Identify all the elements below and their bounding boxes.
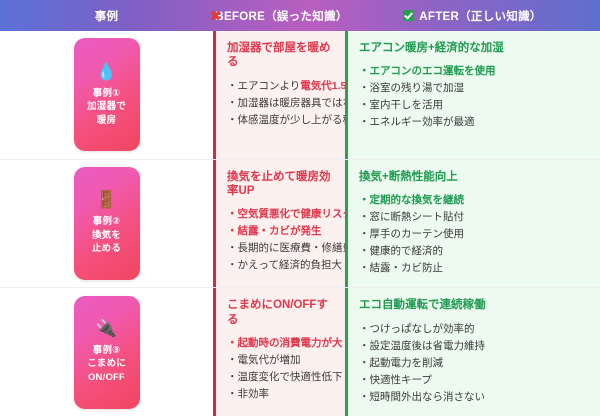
point-item: 窓に断熱シート貼付 xyxy=(359,209,589,226)
after-cell: エアコン暖房+経済的な加湿エアコンのエコ運転を使用浴室の残り湯で加湿室内干しを活… xyxy=(345,31,600,159)
point-item: 結露・カビが発生 xyxy=(227,223,334,240)
before-point-list: 起動時の消費電力が大電気代が増加温度変化で快適性低下非効率 xyxy=(227,335,334,403)
point-text: 結露・カビ防止 xyxy=(370,262,444,274)
before-title: 加湿器で部屋を暖める xyxy=(227,41,334,70)
point-text: 温度変化で快適性低下 xyxy=(238,371,343,383)
case-label-line: 事例③ xyxy=(93,344,121,357)
case-label-line: ON/OFF xyxy=(88,371,125,384)
after-point-list: 定期的な換気を継続窓に断熱シート貼付厚手のカーテン使用健康的で経済的結露・カビ防… xyxy=(359,192,589,277)
point-text: 空気質悪化で健康リスク xyxy=(238,208,346,220)
case-card[interactable]: 💧事例①加湿器で暖房 xyxy=(74,38,140,151)
point-text: 非効率 xyxy=(238,388,270,400)
point-text: エアコンのエコ運転を使用 xyxy=(370,65,496,77)
point-item: 設定温度後は省電力維持 xyxy=(359,338,589,355)
point-item: 快適性キープ xyxy=(359,372,589,389)
point-item: エアコンより電気代1.5倍 xyxy=(227,78,334,95)
power-plug-icon: 🔌 xyxy=(96,320,117,337)
before-cell: 換気を止めて暖房効率UP空気質悪化で健康リスク結露・カビが発生長期的に医療費・修… xyxy=(213,160,345,288)
point-item: 室内干しを活用 xyxy=(359,97,589,114)
table-body: 💧事例①加湿器で暖房加湿器で部屋を暖めるエアコンより電気代1.5倍加湿器は暖房器… xyxy=(0,31,600,416)
point-item: 短時間外出なら消さない xyxy=(359,389,589,406)
point-item: エネルギー効率が最適 xyxy=(359,114,589,131)
after-title: エコ自動運転で連続稼働 xyxy=(359,298,589,312)
point-item: 起動電力を削減 xyxy=(359,355,589,372)
point-text: 快適性キープ xyxy=(370,374,432,386)
point-text: 起動時の消費電力が大 xyxy=(238,337,343,349)
before-cell: こまめにON/OFFする起動時の消費電力が大電気代が増加温度変化で快適性低下非効… xyxy=(213,288,345,416)
point-item: 浴室の残り湯で加湿 xyxy=(359,80,589,97)
point-text: 結露・カビが発生 xyxy=(238,225,322,237)
header-before-label: BEFORE（誤った知識） xyxy=(215,8,347,24)
point-item: 健康的で経済的 xyxy=(359,243,589,260)
case-label-line: 暖房 xyxy=(97,114,116,127)
point-item: 加湿器は暖房器具ではない xyxy=(227,95,334,112)
case-card[interactable]: 🔌事例③こまめにON/OFF xyxy=(74,296,140,409)
before-title: こまめにON/OFFする xyxy=(227,298,334,327)
point-item: 体感温度が少し上がる程度 xyxy=(227,112,334,129)
before-point-list: エアコンより電気代1.5倍加湿器は暖房器具ではない体感温度が少し上がる程度 xyxy=(227,78,334,129)
header-cell-after: AFTER（正しい知識） xyxy=(345,0,600,31)
case-cell: 💧事例①加湿器で暖房 xyxy=(0,31,213,159)
point-item: 温度変化で快適性低下 xyxy=(227,369,334,386)
point-text: 加湿器は暖房器具ではない xyxy=(238,97,346,109)
case-label-line: 加湿器で xyxy=(87,100,126,113)
point-text: 室内干しを活用 xyxy=(370,99,444,111)
header-case-label: 事例 xyxy=(95,8,119,24)
header-after-label: AFTER（正しい知識） xyxy=(419,8,541,24)
point-text: 窓に断熱シート貼付 xyxy=(370,211,465,223)
case-card[interactable]: 🚪事例②換気を止める xyxy=(74,167,140,280)
table-header-row: 事例 BEFORE（誤った知識） AFTER（正しい知識） xyxy=(0,0,600,31)
after-point-list: エアコンのエコ運転を使用浴室の残り湯で加湿室内干しを活用エネルギー効率が最適 xyxy=(359,63,589,131)
check-mark-icon xyxy=(403,10,414,21)
case-label-line: 事例② xyxy=(93,215,121,228)
point-text: 短時間外出なら消さない xyxy=(370,391,486,403)
point-text: 健康的で経済的 xyxy=(370,245,444,257)
point-text: 設定温度後は省電力維持 xyxy=(370,340,486,352)
table-row: 🔌事例③こまめにON/OFFこまめにON/OFFする起動時の消費電力が大電気代が… xyxy=(0,288,600,416)
header-cell-before: BEFORE（誤った知識） xyxy=(213,0,345,31)
point-emphasis: 電気代1.5倍 xyxy=(300,80,345,92)
point-text: かえって経済的負担大 xyxy=(238,259,342,271)
door-icon: 🚪 xyxy=(96,191,117,208)
comparison-table: 事例 BEFORE（誤った知識） AFTER（正しい知識） 💧事例①加湿器で暖房… xyxy=(0,0,600,416)
after-cell: 換気+断熱性能向上定期的な換気を継続窓に断熱シート貼付厚手のカーテン使用健康的で… xyxy=(345,160,600,288)
point-text: 浴室の残り湯で加湿 xyxy=(370,82,465,94)
point-text: 電気代が増加 xyxy=(238,354,301,366)
point-item: 電気代が増加 xyxy=(227,352,334,369)
point-item: 長期的に医療費・修繕費増 xyxy=(227,240,334,257)
point-item: 起動時の消費電力が大 xyxy=(227,335,334,352)
before-title: 換気を止めて暖房効率UP xyxy=(227,170,334,199)
case-label-line: 事例① xyxy=(93,87,121,100)
point-text: 体感温度が少し上がる程度 xyxy=(238,114,346,126)
point-text: つけっぱなしが効率的 xyxy=(370,323,475,335)
after-point-list: つけっぱなしが効率的設定温度後は省電力維持起動電力を削減快適性キープ短時間外出な… xyxy=(359,321,589,406)
case-label-line: 止める xyxy=(92,242,121,255)
case-label-line: こまめに xyxy=(87,357,126,370)
case-label-line: 換気を xyxy=(92,229,121,242)
before-cell: 加湿器で部屋を暖めるエアコンより電気代1.5倍加湿器は暖房器具ではない体感温度が… xyxy=(213,31,345,159)
point-item: つけっぱなしが効率的 xyxy=(359,321,589,338)
case-cell: 🚪事例②換気を止める xyxy=(0,160,213,288)
case-cell: 🔌事例③こまめにON/OFF xyxy=(0,288,213,416)
point-text: 厚手のカーテン使用 xyxy=(370,228,465,240)
point-item: 定期的な換気を継続 xyxy=(359,192,589,209)
point-item: 厚手のカーテン使用 xyxy=(359,226,589,243)
point-item: かえって経済的負担大 xyxy=(227,257,334,274)
header-cell-case: 事例 xyxy=(0,0,213,31)
point-text: 長期的に医療費・修繕費増 xyxy=(238,242,346,254)
point-item: エアコンのエコ運転を使用 xyxy=(359,63,589,80)
point-text: エアコンより xyxy=(238,80,301,92)
before-point-list: 空気質悪化で健康リスク結露・カビが発生長期的に医療費・修繕費増かえって経済的負担… xyxy=(227,206,334,274)
point-item: 結露・カビ防止 xyxy=(359,260,589,277)
point-text: 起動電力を削減 xyxy=(370,357,444,369)
point-item: 非効率 xyxy=(227,386,334,403)
after-title: エアコン暖房+経済的な加湿 xyxy=(359,41,589,55)
after-cell: エコ自動運転で連続稼働つけっぱなしが効率的設定温度後は省電力維持起動電力を削減快… xyxy=(345,288,600,416)
table-row: 💧事例①加湿器で暖房加湿器で部屋を暖めるエアコンより電気代1.5倍加湿器は暖房器… xyxy=(0,31,600,160)
point-item: 空気質悪化で健康リスク xyxy=(227,206,334,223)
after-title: 換気+断熱性能向上 xyxy=(359,170,589,184)
water-droplet-icon: 💧 xyxy=(96,63,117,80)
table-row: 🚪事例②換気を止める換気を止めて暖房効率UP空気質悪化で健康リスク結露・カビが発… xyxy=(0,160,600,289)
point-text: 定期的な換気を継続 xyxy=(370,194,465,206)
point-text: エネルギー効率が最適 xyxy=(370,116,475,128)
